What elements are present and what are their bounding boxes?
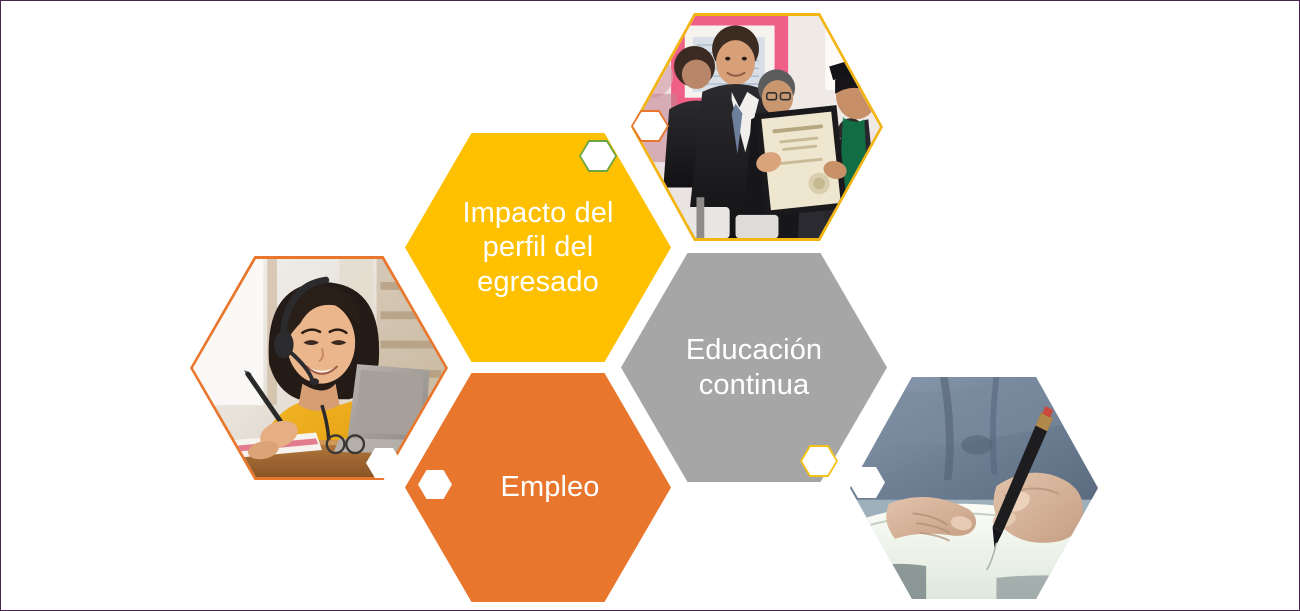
hexagon-educacion-continua[interactable]: Educación continua [621, 253, 887, 482]
photo-hexagon-escritura[interactable] [847, 374, 1101, 602]
photo-hexagon-graduacion[interactable] [631, 13, 883, 241]
infographic-canvas: Impacto del perfil del egresado Educació… [0, 0, 1300, 611]
photo-escritura-image [850, 377, 1098, 599]
hexagon-impacto-del-perfil-del-egresado[interactable]: Impacto del perfil del egresado [405, 133, 671, 362]
hexagon-stage: Impacto del perfil del egresado Educació… [1, 1, 1299, 610]
hexagon-educacion-label: Educación continua [672, 333, 836, 401]
photo-graduacion-image [634, 16, 880, 238]
hexagon-impacto-label: Impacto del perfil del egresado [448, 196, 627, 299]
photo-hexagon-estudiante[interactable] [190, 256, 448, 480]
hexagon-empleo-label: Empleo [487, 470, 614, 504]
photo-estudiante-image [193, 259, 445, 477]
